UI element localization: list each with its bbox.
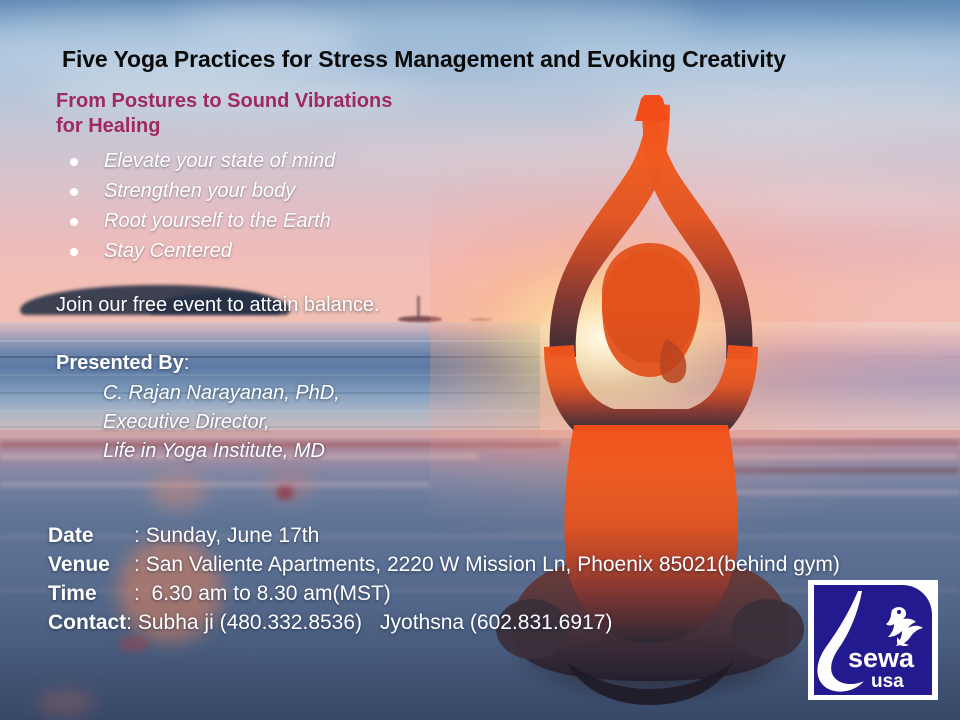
logo-wordmark-sewa: sewa <box>848 643 915 673</box>
list-item: Strengthen your body <box>62 176 335 206</box>
presented-by-colon: : <box>184 352 190 374</box>
lens-flare-icon <box>118 636 148 652</box>
venue-value: San Valiente Apartments, 2220 W Mission … <box>146 553 840 576</box>
flyer-title: Five Yoga Practices for Stress Managemen… <box>62 46 786 73</box>
lens-flare-icon <box>276 486 294 500</box>
detail-row-date: Date: Sunday, June 17th <box>48 521 840 550</box>
contact-label: Contact <box>48 608 126 637</box>
time-value: 6.30 am to 8.30 am(MST) <box>152 582 391 605</box>
time-label: Time <box>48 579 134 608</box>
time-separator: : <box>134 579 140 608</box>
lens-flare-icon <box>36 690 96 716</box>
presenter-role: Executive Director, <box>103 408 340 437</box>
date-separator: : <box>134 521 140 550</box>
presenter-name: C. Rajan Narayanan, PhD, <box>103 379 340 408</box>
venue-label: Venue <box>48 550 134 579</box>
presenter-details: C. Rajan Narayanan, PhD, Executive Direc… <box>103 379 340 466</box>
sailboat-mast-icon <box>417 296 420 318</box>
tagline: Join our free event to attain balance. <box>56 294 380 317</box>
list-item: Elevate your state of mind <box>62 146 335 176</box>
subtitle-line-2: for Healing <box>56 114 392 139</box>
flyer-subtitle: From Postures to Sound Vibrations for He… <box>56 89 392 139</box>
lens-flare-icon <box>150 474 206 510</box>
logo-wordmark-usa: usa <box>871 671 904 692</box>
presenter-organization: Life in Yoga Institute, MD <box>103 437 340 466</box>
presented-by-label: Presented By <box>56 352 184 374</box>
detail-row-venue: Venue: San Valiente Apartments, 2220 W M… <box>48 550 840 579</box>
detail-row-contact: Contact: Subha ji (480.332.8536)Jyothsna… <box>48 608 840 637</box>
presented-by-heading: Presented By: <box>56 352 189 375</box>
benefits-list: Elevate your state of mind Strengthen yo… <box>62 146 335 266</box>
contact-value-secondary: Jyothsna (602.831.6917) <box>380 611 612 634</box>
flyer-canvas: Five Yoga Practices for Stress Managemen… <box>0 0 960 720</box>
sailboat-icon <box>398 316 442 322</box>
date-label: Date <box>48 521 134 550</box>
sewa-usa-logo: sewa usa <box>808 580 938 700</box>
detail-row-time: Time: 6.30 am to 8.30 am(MST) <box>48 579 840 608</box>
event-details: Date: Sunday, June 17th Venue: San Valie… <box>48 521 840 637</box>
subtitle-line-1: From Postures to Sound Vibrations <box>56 89 392 114</box>
contact-value-primary: Subha ji (480.332.8536) <box>138 611 362 634</box>
venue-separator: : <box>134 550 140 579</box>
list-item: Stay Centered <box>62 236 335 266</box>
date-value: Sunday, June 17th <box>146 524 320 547</box>
contact-separator: : <box>126 608 132 637</box>
list-item: Root yourself to the Earth <box>62 206 335 236</box>
